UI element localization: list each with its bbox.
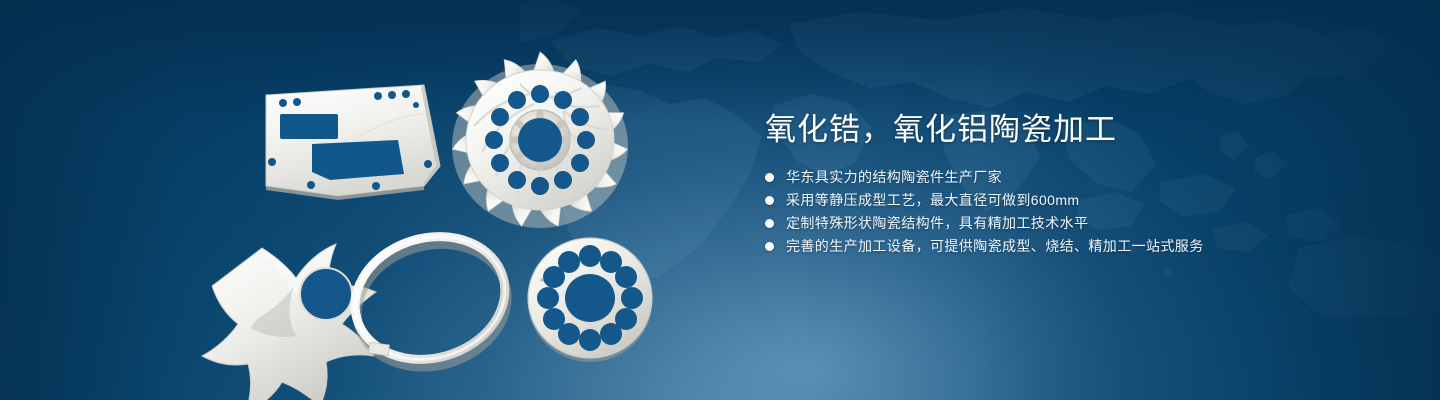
bullet-text: 完善的生产加工设备，可提供陶瓷成型、烧结、精加工一站式服务 <box>786 239 1204 253</box>
bullet-dot-icon <box>765 173 774 182</box>
product-photo-cluster <box>0 0 720 400</box>
bullet-text: 采用等静压成型工艺，最大直径可做到600mm <box>786 193 1079 207</box>
bullet-dot-icon <box>765 196 774 205</box>
feature-bullet-list: 华东具实力的结构陶瓷件生产厂家 采用等静压成型工艺，最大直径可做到600mm 定… <box>765 170 1385 253</box>
bullet-dot-icon <box>765 219 774 228</box>
list-item: 完善的生产加工设备，可提供陶瓷成型、烧结、精加工一站式服务 <box>765 239 1385 253</box>
bullet-text: 定制特殊形状陶瓷结构件，具有精加工技术水平 <box>786 216 1088 230</box>
list-item: 定制特殊形状陶瓷结构件，具有精加工技术水平 <box>765 216 1385 230</box>
ceramic-processing-banner: 氧化锆，氧化铝陶瓷加工 华东具实力的结构陶瓷件生产厂家 采用等静压成型工艺，最大… <box>0 0 1440 400</box>
list-item: 采用等静压成型工艺，最大直径可做到600mm <box>765 193 1385 207</box>
list-item: 华东具实力的结构陶瓷件生产厂家 <box>765 170 1385 184</box>
banner-text-block: 氧化锆，氧化铝陶瓷加工 华东具实力的结构陶瓷件生产厂家 采用等静压成型工艺，最大… <box>765 110 1385 262</box>
bullet-text: 华东具实力的结构陶瓷件生产厂家 <box>786 170 1002 184</box>
ceramic-ring <box>340 219 521 384</box>
ceramic-impeller-rotor <box>451 52 629 229</box>
ceramic-mounting-plate <box>266 85 440 200</box>
ceramic-cross-lobe-part <box>202 244 376 400</box>
page-title: 氧化锆，氧化铝陶瓷加工 <box>765 110 1385 150</box>
bullet-dot-icon <box>765 242 774 251</box>
ceramic-perforated-disc <box>528 238 652 362</box>
